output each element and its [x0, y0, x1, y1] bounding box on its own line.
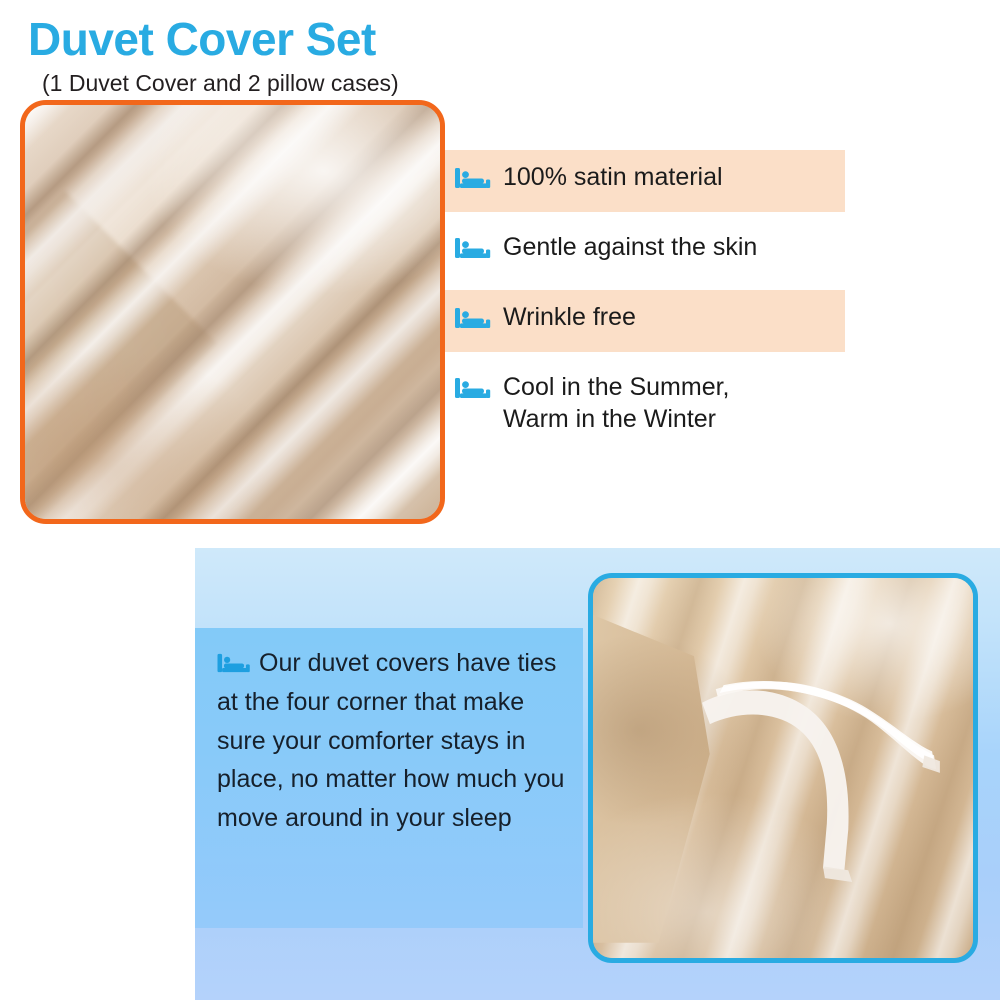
duvet-tie-photo — [588, 573, 978, 963]
page-title: Duvet Cover Set — [28, 16, 376, 62]
bed-icon — [455, 306, 491, 330]
bed-icon — [455, 376, 491, 400]
ribbon-tie-icon — [593, 578, 973, 958]
bed-icon — [455, 166, 491, 190]
feature-item: Cool in the Summer, Warm in the Winter — [445, 360, 845, 445]
satin-fabric-photo — [20, 100, 445, 524]
bed-icon — [455, 236, 491, 260]
feature-list: 100% satin material Gentle against the s… — [445, 150, 845, 445]
feature-item: Wrinkle free — [445, 290, 845, 352]
product-infographic: Duvet Cover Set (1 Duvet Cover and 2 pil… — [0, 0, 1000, 1000]
page-subtitle: (1 Duvet Cover and 2 pillow cases) — [42, 70, 399, 97]
feature-label: 100% satin material — [503, 160, 723, 194]
photo-sheen — [25, 105, 440, 519]
tie-feature-label: Our duvet covers have ties at the four c… — [217, 649, 564, 832]
feature-item: Gentle against the skin — [445, 220, 845, 282]
feature-label: Cool in the Summer, Warm in the Winter — [503, 370, 730, 435]
bed-icon — [217, 652, 251, 674]
feature-label: Gentle against the skin — [503, 230, 757, 264]
feature-item: 100% satin material — [445, 150, 845, 212]
tie-feature-text-block: Our duvet covers have ties at the four c… — [217, 644, 577, 838]
feature-label: Wrinkle free — [503, 300, 636, 334]
tie-feature-panel: Our duvet covers have ties at the four c… — [195, 548, 1000, 1000]
